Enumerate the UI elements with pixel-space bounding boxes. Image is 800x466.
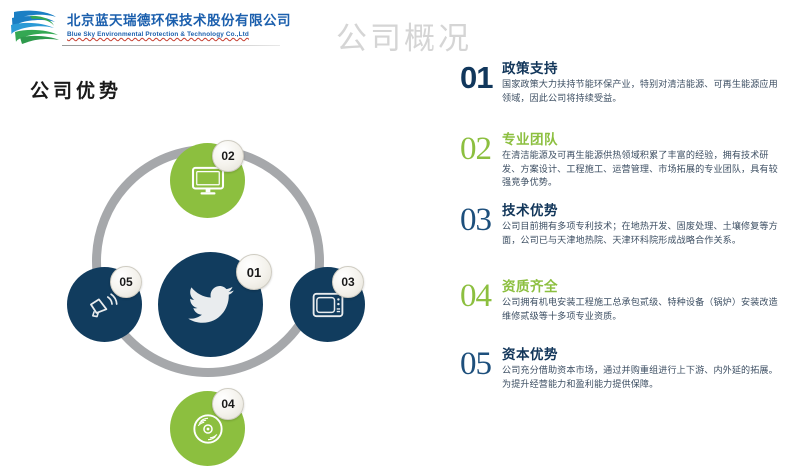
diagram-badge-03[interactable]: 03 <box>332 266 364 298</box>
advantages-diagram: 公司优势 01 02 <box>0 56 460 448</box>
item-number: 05 <box>460 346 502 382</box>
diagram-badge-02[interactable]: 02 <box>212 140 244 172</box>
item-title: 技术优势 <box>502 203 800 220</box>
item-number: 01 <box>460 60 502 96</box>
item-title: 资本优势 <box>502 347 800 364</box>
item-title: 资质齐全 <box>502 279 800 296</box>
company-name-cn: 北京蓝天瑞德环保技术股份有限公司 <box>67 13 291 30</box>
header-divider <box>62 45 280 46</box>
item-description: 国家政策大力扶持节能环保产业，特别对清洁能源、可再生能源应用领域，因此公司将持续… <box>502 79 778 106</box>
twitter-bird-icon <box>188 286 234 324</box>
item-description: 公司目前拥有多项专利技术；在地热开发、固废处理、土壤修复等方面，公司已与天津地热… <box>502 221 778 248</box>
list-item[interactable]: 04 资质齐全 公司拥有机电安装工程施工总承包贰级、特种设备（锅炉）安装改造维修… <box>460 278 800 324</box>
page-title: 公司概况 <box>336 13 472 58</box>
item-title: 政策支持 <box>502 61 800 78</box>
company-logo-text: 北京蓝天瑞德环保技术股份有限公司 Blue Sky Environmental … <box>67 13 291 39</box>
item-description: 公司拥有机电安装工程施工总承包贰级、特种设备（锅炉）安装改造维修贰级等十多项专业… <box>502 297 778 324</box>
item-title: 专业团队 <box>502 132 800 149</box>
diagram-badge-04[interactable]: 04 <box>212 388 244 420</box>
list-item[interactable]: 05 资本优势 公司充分借助资本市场，通过并购重组进行上下游、内外延的拓展。为提… <box>460 346 800 392</box>
diagram-badge-05[interactable]: 05 <box>110 266 142 298</box>
page-header: 北京蓝天瑞德环保技术股份有限公司 Blue Sky Environmental … <box>0 0 800 56</box>
advantages-list: 01 政策支持 国家政策大力扶持节能环保产业，特别对清洁能源、可再生能源应用领域… <box>460 56 800 448</box>
list-item[interactable]: 01 政策支持 国家政策大力扶持节能环保产业，特别对清洁能源、可再生能源应用领域… <box>460 60 800 106</box>
item-number: 02 <box>460 131 502 167</box>
diagram-heading: 公司优势 <box>30 76 122 103</box>
company-logo: 北京蓝天瑞德环保技术股份有限公司 Blue Sky Environmental … <box>8 8 291 44</box>
item-description: 在清洁能源及可再生能源供热领域积累了丰富的经验，拥有技术研发、方案设计、工程施工… <box>502 150 778 191</box>
list-item[interactable]: 02 专业团队 在清洁能源及可再生能源供热领域积累了丰富的经验，拥有技术研发、方… <box>460 131 800 191</box>
company-name-en: Blue Sky Environmental Protection & Tech… <box>67 30 291 39</box>
item-number: 04 <box>460 278 502 314</box>
item-description: 公司充分借助资本市场，通过并购重组进行上下游、内外延的拓展。为提升经营能力和盈利… <box>502 365 778 392</box>
item-number: 03 <box>460 202 502 238</box>
list-item[interactable]: 03 技术优势 公司目前拥有多项专利技术；在地热开发、固废处理、土壤修复等方面，… <box>460 202 800 248</box>
company-logo-mark <box>8 8 62 44</box>
diagram-badge-01[interactable]: 01 <box>236 254 272 290</box>
